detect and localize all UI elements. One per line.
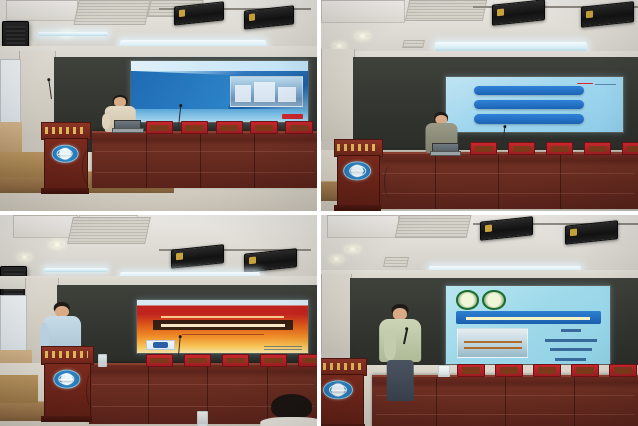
- slide-title-banner: [456, 311, 601, 323]
- chair: [298, 354, 317, 367]
- slide-affiliation-block: [541, 329, 600, 352]
- chair: [260, 354, 287, 367]
- ceiling-panel: [321, 0, 405, 23]
- chair: [495, 364, 522, 378]
- water-bottle: [197, 411, 209, 426]
- strip-light: [38, 32, 108, 36]
- water-bottle: [98, 354, 106, 367]
- strip-light: [435, 42, 587, 50]
- presenter-arm: [384, 331, 396, 360]
- downlight: [51, 242, 64, 246]
- projection-screen: [445, 76, 625, 133]
- stage-light-lens: [179, 10, 186, 17]
- standing-presenter-with-mic: [378, 304, 422, 401]
- stage-light-lens: [249, 14, 256, 21]
- conference-table: [92, 131, 317, 188]
- photo-panel-top-left: [0, 0, 317, 211]
- slide-bullet-2: [474, 100, 584, 109]
- chair: [609, 364, 636, 378]
- podium: [41, 122, 89, 194]
- photo-collage-grid: [0, 0, 638, 425]
- laptop: [432, 143, 457, 156]
- chair: [285, 121, 312, 134]
- stage-side: [0, 375, 38, 402]
- window: [0, 295, 27, 356]
- audience-head: [260, 394, 317, 426]
- side-wall-panel: [321, 274, 352, 354]
- university-emblem: [344, 161, 372, 180]
- stage-light-lens: [176, 253, 183, 260]
- photo-panel-bottom-right: [321, 215, 638, 426]
- chair: [146, 121, 173, 134]
- chair: [181, 121, 208, 134]
- podium: [41, 346, 92, 422]
- side-wall-panel: [321, 49, 355, 142]
- laptop: [114, 120, 139, 133]
- podium: [321, 358, 365, 426]
- slide-presenter-line: [182, 332, 264, 335]
- cable: [384, 165, 398, 199]
- chair: [533, 364, 560, 378]
- water-bottle: [438, 365, 450, 378]
- slide-building-photo: [230, 76, 303, 107]
- chair: [508, 142, 535, 155]
- ceiling-panel: [6, 0, 78, 21]
- ceiling-panel: [327, 215, 399, 238]
- photo-panel-bottom-left: [0, 215, 317, 426]
- chair: [222, 354, 249, 367]
- slide-title-block: [153, 320, 293, 330]
- air-vent: [67, 217, 151, 244]
- chair: [622, 142, 638, 155]
- air-vent: [403, 40, 426, 48]
- slide-teal-banner: [446, 286, 611, 364]
- podium-base: [41, 416, 92, 422]
- chair: [470, 142, 497, 155]
- slide-swoosh-logo: [577, 81, 616, 86]
- strip-light: [44, 268, 107, 272]
- stage-light-lens: [497, 8, 504, 16]
- slide-top-band: [131, 61, 309, 71]
- laptop-keyboard: [430, 151, 461, 156]
- downlight: [334, 44, 345, 48]
- presenter-legs: [387, 360, 414, 401]
- projection-screen: [136, 299, 309, 354]
- air-vent: [383, 257, 409, 267]
- presenter-arm: [102, 114, 110, 128]
- downlight: [346, 247, 359, 251]
- audience-hair: [271, 394, 313, 419]
- slide-bullet-1: [474, 86, 584, 95]
- podium-base: [41, 188, 89, 194]
- chair: [571, 364, 598, 378]
- stage-light-lens: [570, 229, 577, 236]
- slide-logo-mark: [282, 114, 303, 119]
- slide-emblem-left: [456, 290, 480, 310]
- stage-light-lens: [249, 257, 256, 264]
- air-vent: [404, 0, 487, 21]
- podium-base: [334, 205, 382, 211]
- slide-bullet-3: [474, 114, 584, 123]
- chair: [546, 142, 573, 155]
- university-emblem: [323, 380, 353, 399]
- university-emblem: [53, 370, 80, 389]
- podium-inscription: [337, 144, 377, 150]
- air-vent: [73, 0, 150, 25]
- projection-screen: [130, 60, 310, 123]
- slide-cyan-bullets: [446, 77, 624, 132]
- podium: [334, 139, 382, 211]
- chair: [584, 142, 611, 155]
- slide-left-logo: [146, 340, 175, 350]
- chair: [216, 121, 243, 134]
- slide-diagonal-block: [131, 71, 241, 109]
- slide-emblem-right: [482, 290, 506, 310]
- podium-inscription: [45, 127, 85, 133]
- laptop-keyboard: [112, 128, 143, 133]
- downlight: [19, 255, 30, 259]
- stage-light-lens: [586, 11, 593, 19]
- podium-inscription: [45, 351, 88, 358]
- chair: [184, 354, 211, 367]
- wood-wall-trim: [0, 122, 22, 152]
- conference-table: [378, 152, 638, 209]
- stage-light-lens: [485, 225, 492, 232]
- slide-right-logo: [264, 345, 302, 350]
- downlight: [331, 257, 342, 261]
- slide-fire-gradient: [137, 300, 308, 353]
- projection-screen: [445, 285, 612, 365]
- slide-blue-campus: [131, 61, 309, 122]
- downlight: [356, 34, 369, 38]
- slide-illustration: [457, 328, 528, 358]
- chair: [146, 354, 173, 367]
- podium-inscription: [321, 363, 361, 369]
- stage-side: [0, 152, 44, 177]
- chair: [457, 364, 484, 378]
- window: [0, 59, 21, 124]
- air-vent: [395, 215, 472, 238]
- slide-english-title: [161, 314, 284, 318]
- chair: [250, 121, 277, 134]
- photo-panel-top-right: [321, 0, 638, 211]
- cable: [82, 148, 99, 186]
